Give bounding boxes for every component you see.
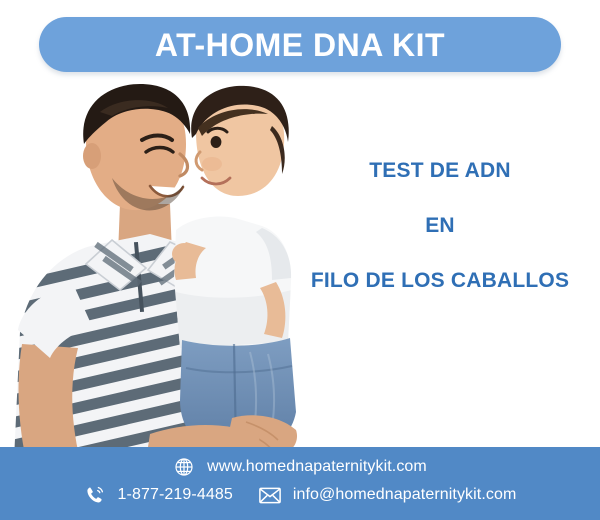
website-contact[interactable]: www.homednapaternitykit.com [173, 456, 427, 478]
headline-line-1: TEST DE ADN [285, 160, 595, 181]
phone-contact[interactable]: 1-877-219-4485 [84, 484, 233, 506]
headline-line-3: FILO DE LOS CABALLOS [285, 270, 595, 291]
phone-icon [84, 484, 106, 506]
footer-row-website: www.homednapaternitykit.com [0, 456, 600, 478]
family-photo [0, 82, 330, 460]
email-label: info@homednapaternitykit.com [293, 487, 517, 503]
family-photo-illustration [0, 82, 330, 460]
headline-line-2: EN [285, 215, 595, 236]
email-contact[interactable]: info@homednapaternitykit.com [259, 484, 517, 506]
contact-footer: www.homednapaternitykit.com 1-877-219-44… [0, 447, 600, 520]
headline-block: TEST DE ADN EN FILO DE LOS CABALLOS [285, 160, 595, 291]
envelope-icon [259, 484, 281, 506]
title-banner: AT-HOME DNA KIT [39, 17, 561, 72]
globe-icon [173, 456, 195, 478]
footer-row-phone-email: 1-877-219-4485 info@homednapaternitykit.… [0, 484, 600, 506]
poster-canvas: AT-HOME DNA KIT [0, 0, 600, 520]
poster-title: AT-HOME DNA KIT [155, 29, 445, 61]
phone-label: 1-877-219-4485 [118, 487, 233, 503]
website-label: www.homednapaternitykit.com [207, 459, 427, 475]
